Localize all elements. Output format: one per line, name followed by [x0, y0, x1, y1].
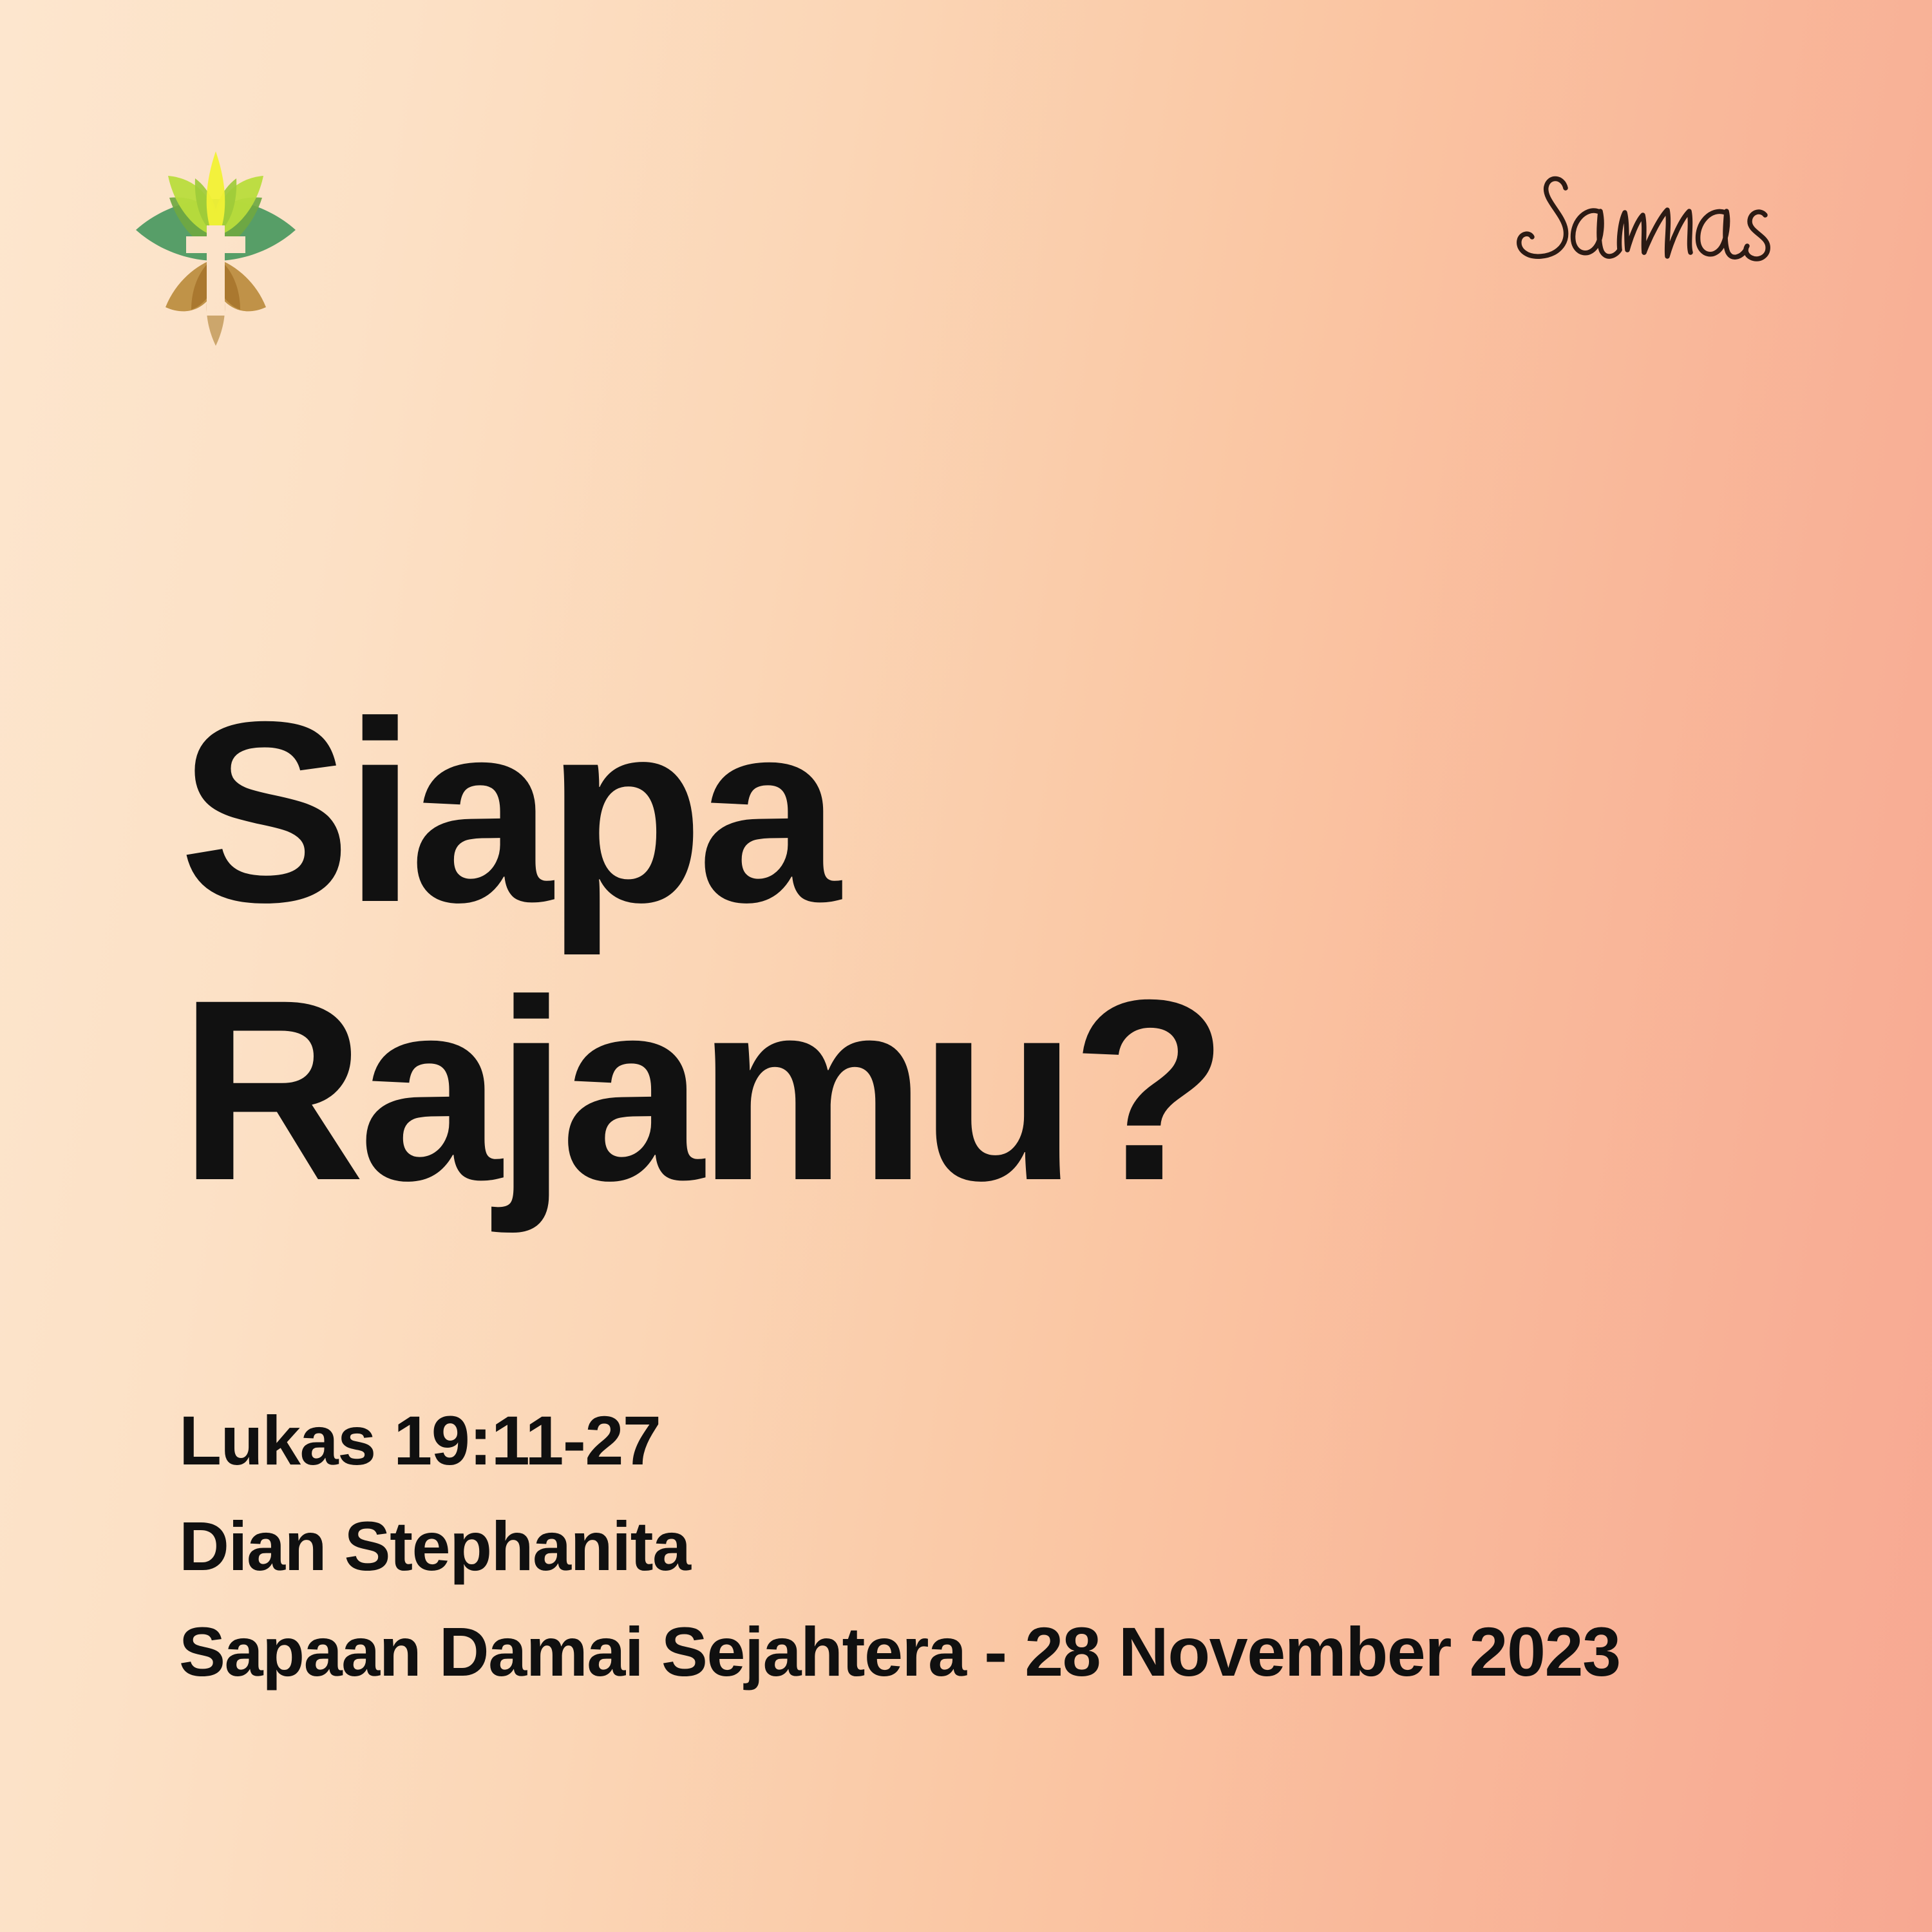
event-and-date: Sapaan Damai Sejahtera - 28 November 202… [179, 1599, 1853, 1705]
sermon-title-slide: Siapa Rajamu? Lukas 19:11-27 Dian Stepha… [0, 0, 1932, 1932]
sermon-meta: Lukas 19:11-27 Dian Stephanita Sapaan Da… [179, 1388, 1853, 1705]
samas-wordmark [1504, 161, 1800, 290]
speaker-name: Dian Stephanita [179, 1493, 1853, 1599]
scripture-reference: Lukas 19:11-27 [179, 1388, 1853, 1493]
lotus-cross-logo [132, 138, 299, 351]
page-title: Siapa Rajamu? [179, 673, 1596, 1229]
